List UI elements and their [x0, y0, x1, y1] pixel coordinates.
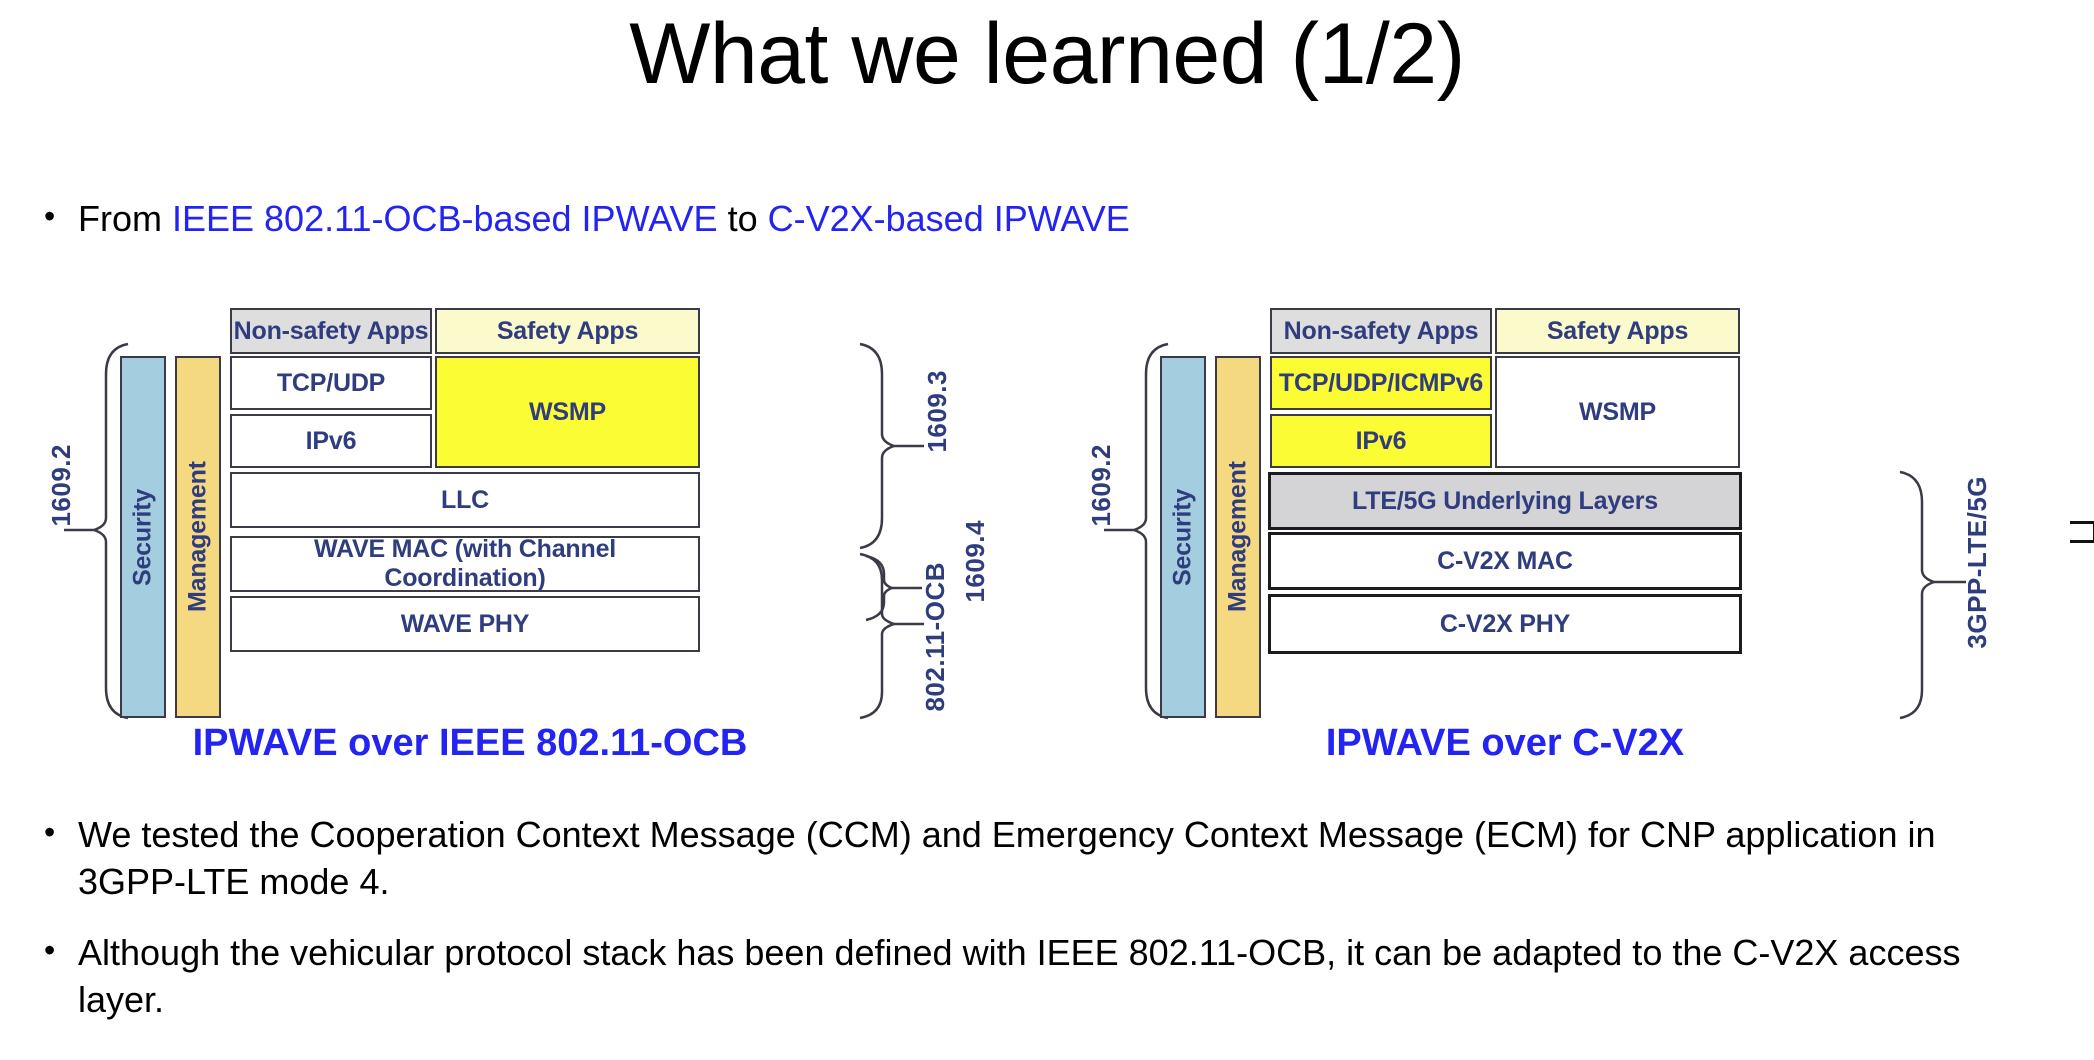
left-box-llc: LLC — [230, 472, 700, 528]
left-box-wave-phy: WAVE PHY — [230, 596, 700, 652]
right-box-wsmp: WSMP — [1495, 356, 1740, 468]
right-box-safety-apps: Safety Apps — [1495, 308, 1740, 354]
right-col-security: Security — [1160, 356, 1206, 718]
right-box-cv2x-phy: C-V2X PHY — [1268, 594, 1742, 654]
bullet-marker-icon: • — [44, 196, 78, 238]
link-cv2x-ipwave[interactable]: C-V2X-based IPWAVE — [768, 198, 1130, 239]
bullet-marker-icon: • — [44, 812, 78, 854]
left-box-non-safety-apps: Non-safety Apps — [230, 308, 432, 354]
edge-artifact-icon — [2070, 521, 2094, 543]
bullet-tested-ccm-ecm: • We tested the Cooperation Context Mess… — [44, 812, 2004, 906]
diagram-ipwave-over-ieee-80211-ocb: 1609.2 1609.3 1609.4 802.11-OCB Non-safe… — [60, 322, 1020, 742]
bullet-marker-icon: • — [44, 930, 78, 972]
right-col-management: Management — [1215, 356, 1261, 718]
bullet-adapted-cv2x-text: Although the vehicular protocol stack ha… — [78, 930, 2004, 1024]
bullet-adapted-cv2x: • Although the vehicular protocol stack … — [44, 930, 2004, 1024]
left-box-tcp-udp: TCP/UDP — [230, 356, 432, 410]
left-col-security: Security — [120, 356, 166, 718]
link-ieee-ipwave[interactable]: IEEE 802.11-OCB-based IPWAVE — [172, 198, 718, 239]
diagram-ipwave-over-cv2x: 1609.2 3GPP-LTE/5G Non-safety Apps Safet… — [1100, 322, 2060, 742]
left-box-wsmp: WSMP — [435, 356, 700, 468]
left-diagram-caption: IPWAVE over IEEE 802.11-OCB — [190, 722, 750, 765]
right-label-1609-2: 1609.2 — [1086, 444, 1117, 527]
right-box-cv2x-mac: C-V2X MAC — [1268, 532, 1742, 590]
bullet-top: • From IEEE 802.11-OCB-based IPWAVE to C… — [44, 196, 1944, 243]
bullet-top-middle: to — [718, 198, 768, 239]
bullet-top-text: From IEEE 802.11-OCB-based IPWAVE to C-V… — [78, 196, 1944, 243]
page-title: What we learned (1/2) — [0, 6, 2094, 102]
left-box-wave-mac: WAVE MAC (with Channel Coordination) — [230, 536, 700, 592]
left-col-management: Management — [175, 356, 221, 718]
left-label-1609-3: 1609.3 — [922, 370, 953, 453]
bullet-tested-ccm-ecm-text: We tested the Cooperation Context Messag… — [78, 812, 2004, 906]
right-box-ipv6: IPv6 — [1270, 414, 1492, 468]
left-label-1609-4: 1609.4 — [960, 520, 991, 603]
right-label-3gpp-lte-5g: 3GPP-LTE/5G — [1962, 476, 1993, 649]
bullet-top-prefix: From — [78, 198, 172, 239]
right-diagram-caption: IPWAVE over C-V2X — [1260, 722, 1750, 765]
left-label-802-11-ocb: 802.11-OCB — [920, 562, 951, 712]
right-box-non-safety-apps: Non-safety Apps — [1270, 308, 1492, 354]
left-label-1609-2: 1609.2 — [46, 444, 77, 527]
left-box-ipv6: IPv6 — [230, 414, 432, 468]
right-box-tcp-udp-icmpv6: TCP/UDP/ICMPv6 — [1270, 356, 1492, 410]
right-box-lte-5g-underlying-layers: LTE/5G Underlying Layers — [1268, 472, 1742, 530]
left-box-safety-apps: Safety Apps — [435, 308, 700, 354]
